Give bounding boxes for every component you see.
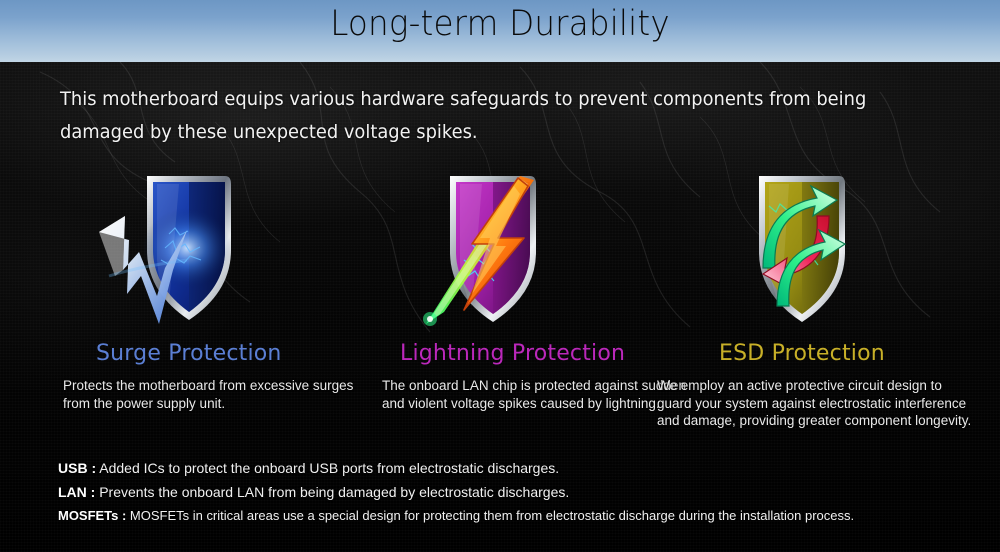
- note-label-usb: USB :: [58, 460, 96, 476]
- blue-shield-surge-icon: [95, 164, 275, 332]
- purple-shield-lightning-icon: [410, 164, 590, 332]
- note-row-mosfets: MOSFETs : MOSFETs in critical areas use …: [58, 504, 964, 528]
- column-surge-protection: Surge Protection Protects the motherboar…: [58, 341, 368, 412]
- intro-paragraph: This motherboard equips various hardware…: [60, 83, 925, 149]
- column-title-esd: ESD Protection: [655, 341, 975, 366]
- note-row-usb: USB : Added ICs to protect the onboard U…: [58, 456, 978, 480]
- header-band: Long-term Durability: [0, 0, 1000, 62]
- lightning-protection-icon-wrap: [410, 164, 590, 332]
- note-text-lan: Prevents the onboard LAN from being dama…: [99, 484, 569, 500]
- column-title-lightning: Lightning Protection: [378, 341, 688, 366]
- column-title-surge: Surge Protection: [58, 341, 368, 366]
- durability-infographic: Long-term Durability This motherboard eq…: [0, 0, 1000, 552]
- page-title: Long-term Durability: [35, 4, 965, 44]
- esd-protection-icon-wrap: [725, 164, 905, 332]
- column-description-surge: Protects the motherboard from excessive …: [58, 377, 368, 412]
- column-description-lightning: The onboard LAN chip is protected agains…: [378, 377, 688, 412]
- note-text-usb: Added ICs to protect the onboard USB por…: [99, 460, 559, 476]
- note-label-lan: LAN :: [58, 484, 95, 500]
- note-row-lan: LAN : Prevents the onboard LAN from bein…: [58, 480, 978, 504]
- column-lightning-protection: Lightning Protection The onboard LAN chi…: [378, 341, 688, 412]
- protection-notes-list: USB : Added ICs to protect the onboard U…: [58, 456, 978, 528]
- shield-icon-row: [0, 164, 1000, 334]
- olive-shield-esd-icon: [725, 164, 905, 332]
- surge-protection-icon-wrap: [95, 164, 275, 332]
- column-description-esd: We employ an active protective circuit d…: [655, 377, 975, 430]
- column-esd-protection: ESD Protection We employ an active prote…: [655, 341, 975, 430]
- note-text-mosfets: MOSFETs in critical areas use a special …: [130, 508, 854, 523]
- note-label-mosfets: MOSFETs :: [58, 508, 126, 523]
